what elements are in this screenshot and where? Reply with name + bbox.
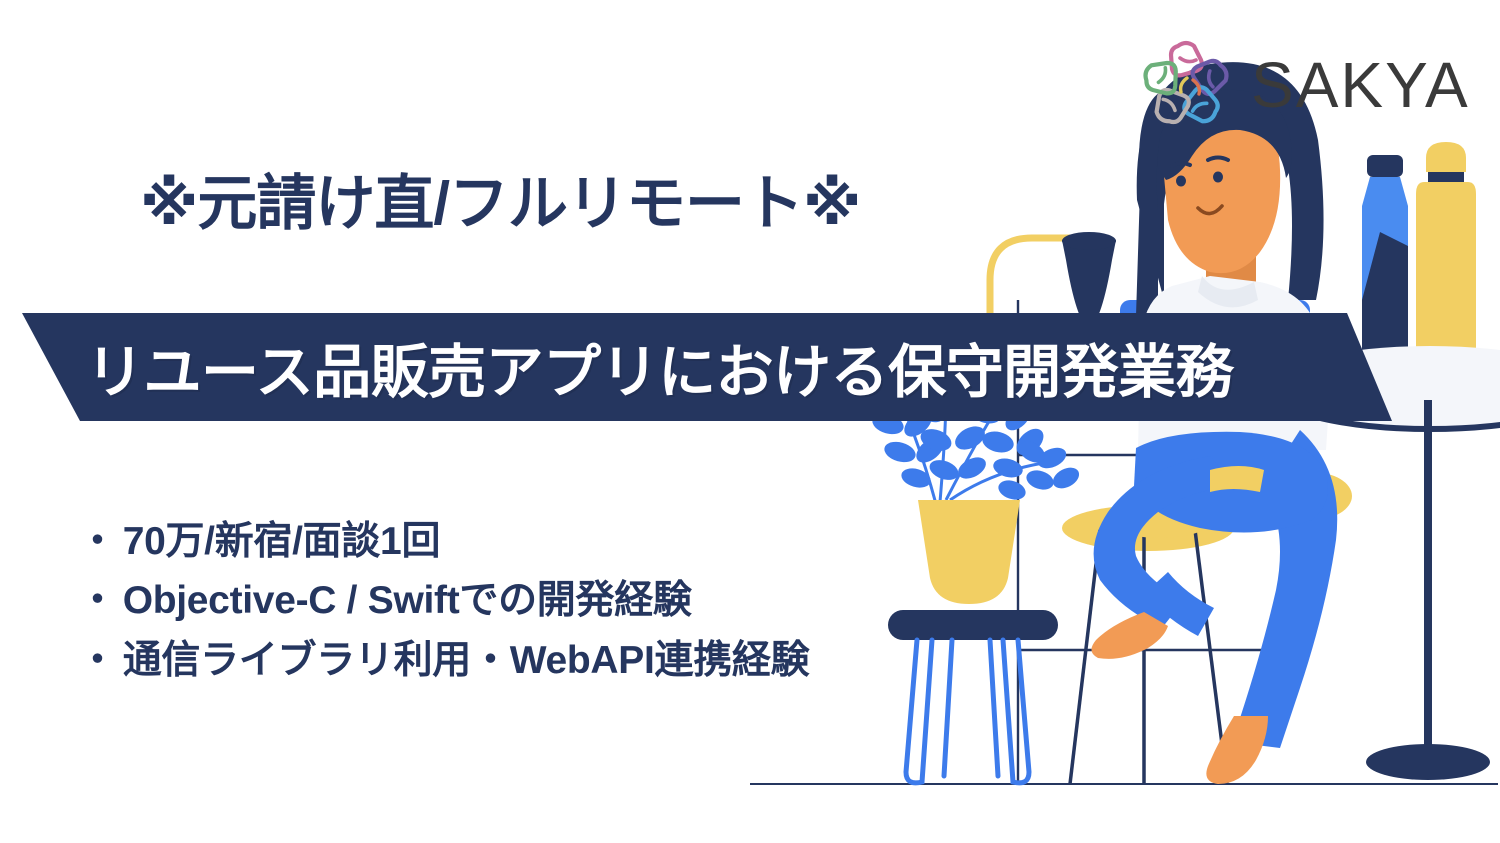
list-item: ・ 通信ライブラリ利用・WebAPI連携経験 [78, 631, 908, 690]
woman-character [1091, 62, 1352, 784]
bullet-label: Objective-C / Swiftでの開発経験 [123, 571, 692, 630]
brand-logo: SAKYA [1135, 30, 1475, 140]
title-banner: リユース品販売アプリにおける保守開発業務 [0, 313, 1400, 421]
brand-wordmark: SAKYA [1251, 53, 1470, 117]
kicker-text: ※元請け直/フルリモート※ [140, 172, 860, 235]
bullet-marker: ・ [78, 522, 117, 561]
bullet-marker: ・ [78, 641, 117, 680]
water-bottle-yellow [1416, 142, 1476, 380]
bullet-list: ・ 70万/新宿/面談1回 ・ Objective-C / Swiftでの開発経… [78, 512, 908, 690]
bullet-label: 通信ライブラリ利用・WebAPI連携経験 [123, 631, 810, 690]
bullet-label: 70万/新宿/面談1回 [123, 512, 440, 571]
banner-title: リユース品販売アプリにおける保守開発業務 [86, 313, 1233, 421]
list-item: ・ 70万/新宿/面談1回 [78, 512, 908, 571]
slide-canvas: SAKYA ※元請け直/フルリモート※ リユース品販売アプリにおける保守開発業務… [0, 0, 1500, 843]
sakya-pentagon-petals-logo-icon [1135, 34, 1237, 136]
list-item: ・ Objective-C / Swiftでの開発経験 [78, 571, 908, 630]
bullet-marker: ・ [78, 581, 117, 620]
